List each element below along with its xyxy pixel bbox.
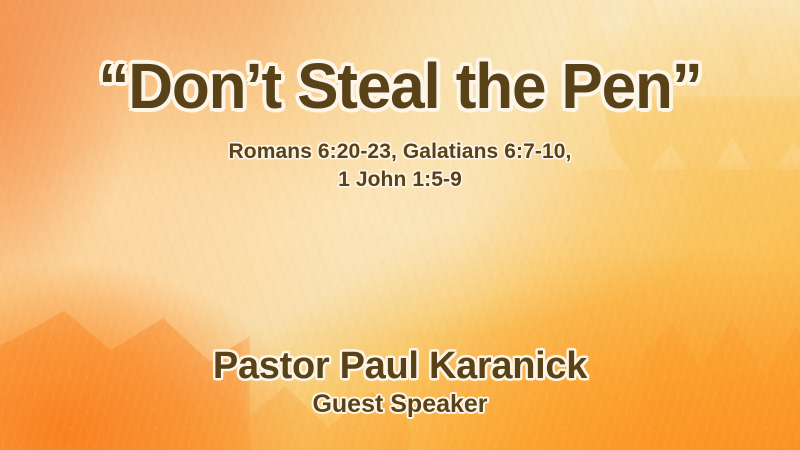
speaker-role: Guest Speaker (0, 392, 800, 417)
sermon-title: “Don’t Steal the Pen” (12, 54, 788, 118)
sermon-title-slide: “Don’t Steal the Pen” Romans 6:20-23, Ga… (0, 0, 800, 450)
slide-content: “Don’t Steal the Pen” Romans 6:20-23, Ga… (0, 0, 800, 450)
scripture-reference-line-2: 1 John 1:5-9 (0, 166, 800, 194)
speaker-name: Pastor Paul Karanick (0, 347, 800, 385)
scripture-references: Romans 6:20-23, Galatians 6:7-10, 1 John… (0, 138, 800, 194)
scripture-reference-line-1: Romans 6:20-23, Galatians 6:7-10, (0, 138, 800, 166)
